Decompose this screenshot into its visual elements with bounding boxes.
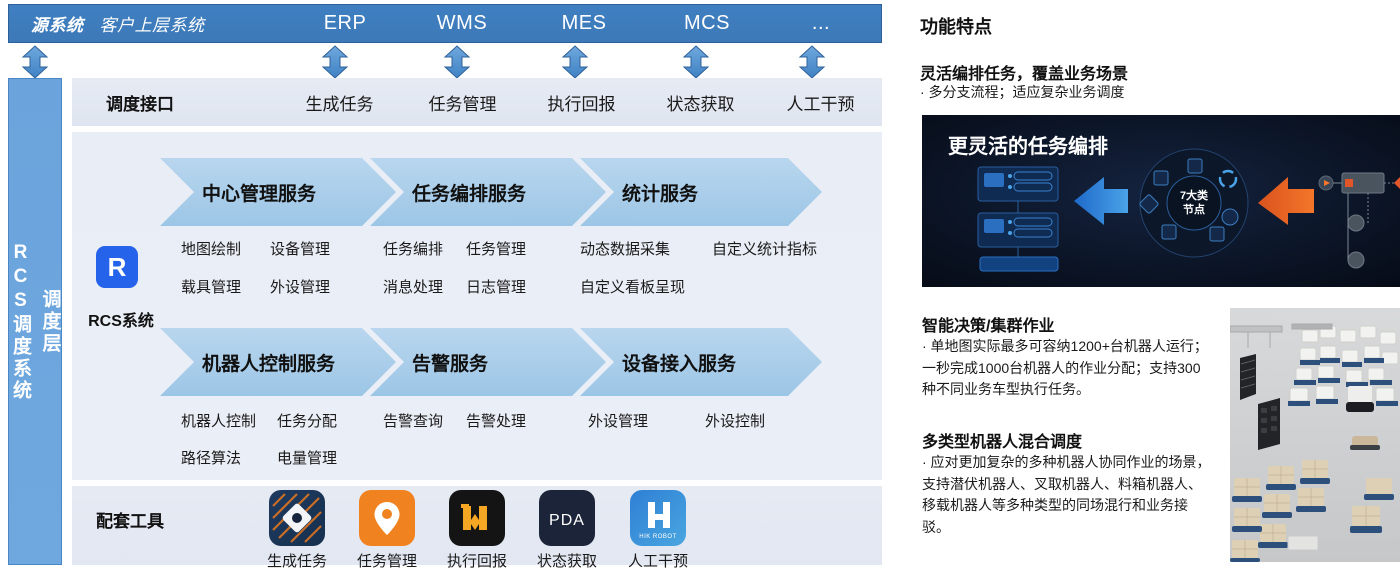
- hik-robot-icon: HIK ROBOT: [630, 490, 686, 546]
- system-chip-erp: ERP: [305, 12, 385, 35]
- feature-heading-3: 多类型机器人混合调度: [922, 428, 1082, 452]
- system-chip-mes: MES: [544, 12, 624, 35]
- feature-heading-1: 灵活编排任务，覆盖业务场景: [920, 60, 1128, 84]
- subitem-alarm-handle[interactable]: 告警处理: [466, 410, 526, 431]
- supporting-tools-label: 配套工具: [96, 507, 164, 532]
- subitem-alarm-query[interactable]: 告警查询: [383, 410, 443, 431]
- rcs-system-name: RCS系统: [82, 307, 160, 331]
- double-arrow-up-down-icon-5: [679, 45, 713, 79]
- interface-item-manual[interactable]: 人工干预: [768, 90, 873, 115]
- svg-text:7大类: 7大类: [1180, 188, 1209, 202]
- feature-heading-2: 智能决策/集群作业: [922, 312, 1054, 336]
- scheduling-interface-label: 调度接口: [106, 90, 174, 115]
- tool-create-task[interactable]: 生成任务: [256, 490, 338, 571]
- location-pin-icon: [359, 490, 415, 546]
- tool-status-fetch[interactable]: PDA 状态获取: [526, 490, 608, 571]
- system-chip-wms: WMS: [422, 12, 502, 35]
- tool-label-manual-intervene: 人工干预: [617, 550, 699, 571]
- source-system-label: 源系统: [31, 11, 84, 36]
- interface-item-exec-report[interactable]: 执行回报: [529, 90, 634, 115]
- service-chevron-row-2-labels: 机器人控制服务 告警服务 设备接入服务: [160, 328, 900, 396]
- feature-body-3: · 应对更加复杂的多种机器人协同作业的场景，支持潜伏机器人、叉取机器人、料箱机器…: [922, 452, 1212, 539]
- interface-item-status-fetch[interactable]: 状态获取: [648, 90, 753, 115]
- interface-item-task-mgmt[interactable]: 任务管理: [410, 90, 515, 115]
- tool-label-exec-report: 执行回报: [436, 550, 518, 571]
- subitem-log-mgmt[interactable]: 日志管理: [466, 276, 526, 297]
- tool-manual-intervene[interactable]: HIK ROBOT 人工干预: [617, 490, 699, 571]
- pda-icon: PDA: [539, 490, 595, 546]
- subitem-message-proc[interactable]: 消息处理: [383, 276, 443, 297]
- scheduling-layer-panel: 调度层 RCS调度系统: [8, 78, 62, 565]
- subitem-peripheral-mgmt[interactable]: 外设管理: [270, 276, 330, 297]
- tool-task-mgmt[interactable]: 任务管理: [346, 490, 428, 571]
- task-orchestration-image: 更灵活的任务编排: [922, 115, 1400, 287]
- features-panel-title: 功能特点: [920, 13, 992, 39]
- system-chip-mcs: MCS: [667, 12, 747, 35]
- architecture-diagram: 源系统 客户上层系统 ERP WMS MES MCS ...: [0, 0, 890, 577]
- tool-exec-report[interactable]: 执行回报: [436, 490, 518, 571]
- scheduling-interface-row: 调度接口 生成任务 任务管理 执行回报 状态获取 人工干预: [72, 78, 882, 126]
- service-title-robot-ctrl[interactable]: 机器人控制服务: [202, 349, 335, 376]
- scheduling-layer-label: 调度层: [35, 289, 64, 355]
- subitem-task-dispatch[interactable]: 任务分配: [277, 410, 337, 431]
- subitem-robot-control[interactable]: 机器人控制: [181, 410, 256, 431]
- slide-root: 源系统 客户上层系统 ERP WMS MES MCS ...: [0, 0, 1400, 577]
- svg-text:HIK ROBOT: HIK ROBOT: [639, 534, 677, 540]
- double-arrow-up-down-icon-3: [440, 45, 474, 79]
- top-system-bar: 源系统 客户上层系统 ERP WMS MES MCS ...: [8, 4, 882, 43]
- rcs-system-label: RCS调度系统: [6, 242, 35, 402]
- subitem-task-orch[interactable]: 任务编排: [383, 238, 443, 259]
- feature-body-1: · 多分支流程；适应复杂业务调度: [920, 82, 1380, 104]
- double-arrow-up-down-icon-6: [795, 45, 829, 79]
- tool-label-status-fetch: 状态获取: [526, 550, 608, 571]
- service-title-task-orch[interactable]: 任务编排服务: [412, 179, 526, 206]
- double-arrow-up-down-icon-1: [18, 45, 52, 79]
- service-title-center-mgmt[interactable]: 中心管理服务: [202, 179, 316, 206]
- subitem-custom-dashboard[interactable]: 自定义看板呈现: [580, 276, 685, 297]
- subitem-dynamic-data[interactable]: 动态数据采集: [580, 238, 670, 259]
- subitem-path-algorithm[interactable]: 路径算法: [181, 447, 241, 468]
- tool-label-task-mgmt: 任务管理: [346, 550, 428, 571]
- map-draw-icon: [269, 490, 325, 546]
- warehouse-fleet-image: [1230, 308, 1400, 562]
- service-chevron-row-1-labels: 中心管理服务 任务编排服务 统计服务: [160, 158, 900, 226]
- double-arrow-up-down-icon-4: [558, 45, 592, 79]
- svg-text:节点: 节点: [1183, 202, 1205, 216]
- feature-body-2: · 单地图实际最多可容纳1200+台机器人运行；一秒完成1000台机器人的作业分…: [922, 336, 1212, 401]
- subitem-power-mgmt[interactable]: 电量管理: [277, 447, 337, 468]
- double-arrow-up-down-icon-2: [318, 45, 352, 79]
- interface-item-create-task[interactable]: 生成任务: [287, 90, 392, 115]
- rcs-badge-letter: R: [108, 252, 127, 283]
- subitem-device-mgmt[interactable]: 设备管理: [270, 238, 330, 259]
- svg-text:PDA: PDA: [549, 512, 585, 529]
- svg-text:更灵活的任务编排: 更灵活的任务编排: [948, 134, 1108, 158]
- tool-label-create-task: 生成任务: [256, 550, 338, 571]
- subitem-map-draw[interactable]: 地图绘制: [181, 238, 241, 259]
- service-title-alarm[interactable]: 告警服务: [412, 349, 488, 376]
- subitem-peripheral-mgmt-2[interactable]: 外设管理: [588, 410, 648, 431]
- subitem-carrier-mgmt[interactable]: 载具管理: [181, 276, 241, 297]
- service-title-statistics[interactable]: 统计服务: [622, 179, 698, 206]
- features-panel: 功能特点 灵活编排任务，覆盖业务场景 · 多分支流程；适应复杂业务调度: [900, 0, 1400, 577]
- rcs-logo-icon: R: [96, 246, 138, 288]
- subitem-peripheral-ctrl[interactable]: 外设控制: [705, 410, 765, 431]
- service-title-device-access[interactable]: 设备接入服务: [622, 349, 736, 376]
- subitem-task-mgmt[interactable]: 任务管理: [466, 238, 526, 259]
- system-chip-more: ...: [781, 12, 861, 35]
- robot-logo-icon: [449, 490, 505, 546]
- customer-upper-system-label: 客户上层系统: [100, 11, 205, 36]
- subitem-custom-metrics[interactable]: 自定义统计指标: [712, 238, 817, 259]
